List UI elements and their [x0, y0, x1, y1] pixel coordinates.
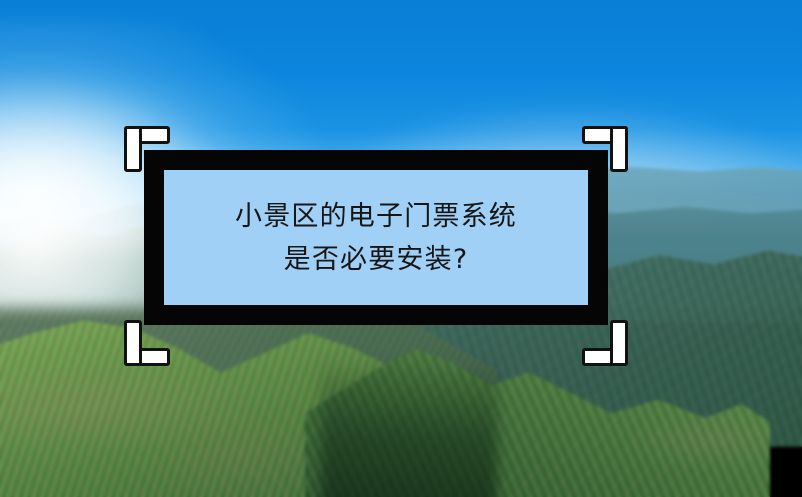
bracket-arm-vertical	[610, 320, 628, 366]
bracket-arm-vertical	[610, 126, 628, 172]
banner-root: 小景区的电子门票系统 是否必要安装?	[0, 0, 802, 497]
headline-line-2: 是否必要安装?	[284, 238, 469, 281]
headline-line-1: 小景区的电子门票系统	[235, 195, 517, 238]
bracket-arm-vertical	[124, 126, 142, 172]
corner-bracket-bottom-left	[124, 320, 170, 366]
corner-bracket-bottom-right	[582, 320, 628, 366]
headline-frame: 小景区的电子门票系统 是否必要安装?	[144, 150, 608, 325]
bracket-arm-vertical	[124, 320, 142, 366]
valley-shadow	[321, 358, 497, 497]
headline-panel: 小景区的电子门票系统 是否必要安装?	[164, 170, 588, 305]
